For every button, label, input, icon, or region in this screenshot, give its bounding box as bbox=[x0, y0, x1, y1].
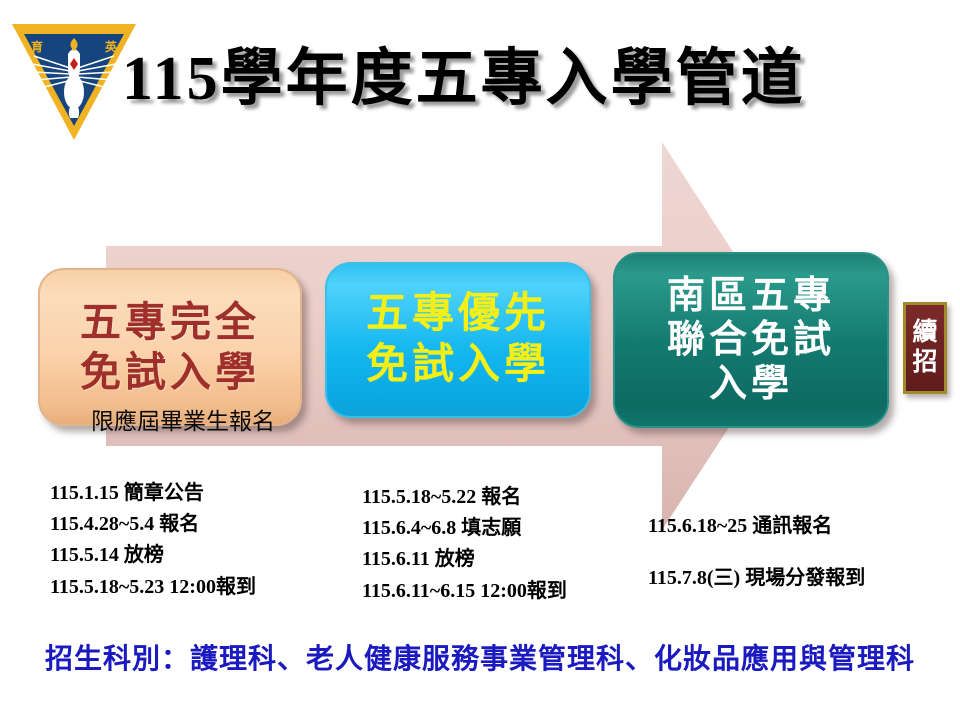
schedule-item: 115.1.15 簡章公告 bbox=[50, 478, 256, 509]
crest-char-right: 英 bbox=[105, 39, 118, 54]
pathway-label-line-1: 五專完全 bbox=[80, 297, 260, 347]
continue-label-line-1: 續 bbox=[912, 318, 937, 349]
continue-label-line-2: 招 bbox=[912, 348, 937, 379]
pathway-label-line-2: 免試入學 bbox=[80, 347, 260, 397]
pathway-label-line-1: 南區五專 bbox=[667, 274, 835, 318]
schedule-item: 115.7.8(三) 現場分發報到 bbox=[648, 552, 865, 604]
programs-footer: 招生科別：護理科、老人健康服務事業管理科、化妝品應用與管理科 bbox=[0, 637, 960, 677]
schedule-south: 115.6.18~25 通訊報名 115.7.8(三) 現場分發報到 bbox=[648, 500, 865, 604]
schedule-priority: 115.5.18~5.22 報名 115.6.4~6.8 填志願 115.6.1… bbox=[362, 482, 567, 607]
schedule-item: 115.6.11~6.15 12:00報到 bbox=[362, 576, 567, 607]
schedule-item: 115.5.14 放榜 bbox=[50, 540, 256, 571]
schedule-item: 115.6.11 放榜 bbox=[362, 544, 567, 575]
slide-root: 育 英 115學年度五專入學管道 五專完全 免試入學 限應屆畢業生報名 五專優先… bbox=[0, 0, 960, 720]
page-title: 115學年度五專入學管道 bbox=[122, 48, 912, 110]
schedule-item: 115.6.18~25 通訊報名 bbox=[648, 500, 865, 552]
pathway-label-line-2: 免試入學 bbox=[366, 340, 550, 391]
schedule-item: 115.5.18~5.22 報名 bbox=[362, 482, 567, 513]
pathway-box-south[interactable]: 南區五專 聯合免試 入學 bbox=[613, 252, 889, 428]
continue-recruitment-box[interactable]: 續 招 bbox=[903, 302, 947, 394]
crest-char-left: 育 bbox=[31, 39, 43, 54]
schedule-complete: 115.1.15 簡章公告 115.4.28~5.4 報名 115.5.14 放… bbox=[50, 478, 256, 603]
pathway-label-line-1: 五專優先 bbox=[366, 289, 550, 340]
pathway-box-priority[interactable]: 五專優先 免試入學 bbox=[325, 262, 591, 418]
school-crest-logo: 育 英 bbox=[8, 18, 140, 146]
schedule-item: 115.5.18~5.23 12:00報到 bbox=[50, 572, 256, 603]
schedule-item: 115.4.28~5.4 報名 bbox=[50, 509, 256, 540]
pathway-label-line-2: 聯合免試 bbox=[667, 318, 835, 362]
pathway-label-line-3: 入學 bbox=[709, 362, 793, 406]
pathway-note-complete: 限應屆畢業生報名 bbox=[60, 402, 306, 436]
schedule-item: 115.6.4~6.8 填志願 bbox=[362, 513, 567, 544]
